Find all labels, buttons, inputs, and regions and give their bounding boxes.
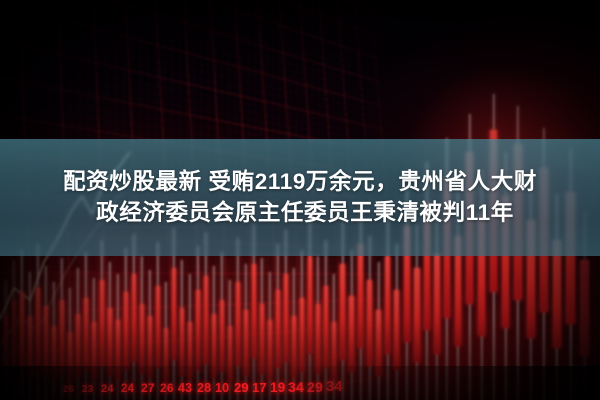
axis-tick: 24: [101, 383, 114, 395]
axis-tick: 28: [197, 381, 211, 395]
headline-overlay-band: 配资炒股最新 受贿2119万余元，贵州省人大财 政经济委员会原主任委员王秉清被判…: [0, 139, 600, 256]
axis-tick: 34: [288, 379, 304, 395]
x-axis-tick-labels: 26 23 24 24 27 26 43 28 10 29 17 19 34 2…: [0, 366, 600, 400]
axis-tick: 29: [307, 379, 323, 395]
axis-tick: 26: [160, 381, 174, 395]
stock-chart-photo: 26 23 24 24 27 26 43 28 10 29 17 19 34 2…: [0, 0, 600, 400]
axis-tick: 26: [63, 384, 74, 395]
axis-tick: 24: [121, 383, 134, 395]
axis-tick: 10: [215, 381, 229, 395]
axis-tick: 27: [141, 381, 155, 395]
axis-tick: 19: [270, 380, 285, 395]
axis-tick: 43: [178, 381, 192, 395]
axis-tick: 23: [82, 384, 94, 395]
headline-line-1: 配资炒股最新 受贿2119万余元，贵州省人大财: [63, 169, 537, 196]
axis-tick: 17: [252, 380, 267, 395]
axis-tick: 34: [326, 379, 343, 395]
headline-line-2: 政经济委员会原主任委员王秉清被判11年: [86, 200, 514, 227]
axis-tick: 29: [234, 380, 249, 395]
